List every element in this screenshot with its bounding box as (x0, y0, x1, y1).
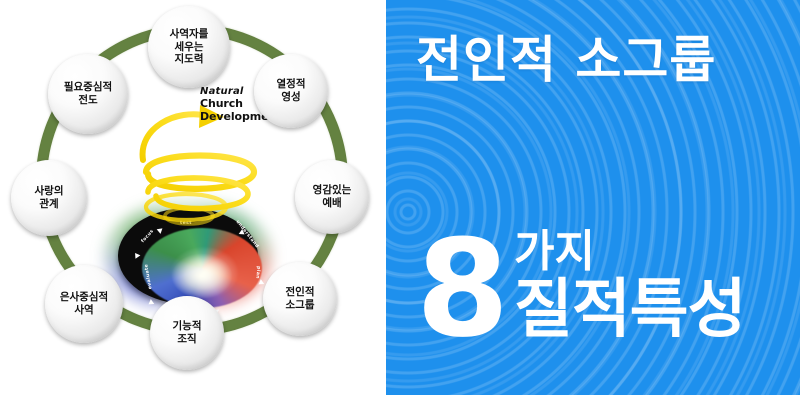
panel-subtitle-block: 8 가지 질적특성 (416, 222, 796, 372)
wheel-node-label: 필요중심적전도 (61, 81, 115, 107)
wheel-node-label: 열정적영성 (274, 78, 309, 104)
wheel-node-evangelism[interactable]: 필요중심적전도 (48, 54, 128, 134)
wheel-node-gift-based[interactable]: 은사중심적사역 (45, 265, 123, 343)
disc-word-test: test (180, 221, 192, 226)
wheel-node-label: 전인적소그룹 (283, 286, 318, 312)
disc-arrow-icon-6 (133, 251, 141, 259)
disc-arrow-icon-1 (157, 226, 165, 234)
subtitle-line-2: 질적특성 (514, 278, 746, 342)
wheel-node-leadership[interactable]: 사역자를세우는지도력 (148, 6, 230, 88)
big-number: 8 (416, 222, 509, 356)
slide-canvas: test understand plan do evaluate focus (0, 0, 800, 400)
wheel-node-structures[interactable]: 기능적조직 (150, 296, 224, 370)
wheel-node-label: 영감있는예배 (310, 184, 355, 210)
disc-word-focus: focus (141, 229, 155, 244)
wheel-node-worship[interactable]: 영감있는예배 (295, 160, 369, 234)
wheel-node-label: 사역자를세우는지도력 (167, 28, 212, 66)
disc-highlight (142, 228, 262, 308)
wheel-node-spirituality[interactable]: 열정적영성 (254, 54, 328, 128)
wheel-node-label: 기능적조직 (170, 320, 205, 346)
title-panel: 전인적 소그룹 8 가지 질적특성 (386, 0, 800, 395)
disc-black-ring: test understand plan do evaluate focus (118, 208, 258, 304)
wheel-node-label: 은사중심적사역 (57, 291, 111, 317)
panel-headline: 전인적 소그룹 (416, 20, 786, 92)
ncd-wheel-panel: test understand plan do evaluate focus (0, 0, 386, 400)
wheel-node-relationships[interactable]: 사랑의관계 (11, 160, 87, 236)
subtitle-line-1: 가지 (514, 230, 595, 274)
wheel-node-small-group[interactable]: 전인적소그룹 (263, 262, 337, 336)
wheel-node-label: 사랑의관계 (32, 185, 67, 211)
